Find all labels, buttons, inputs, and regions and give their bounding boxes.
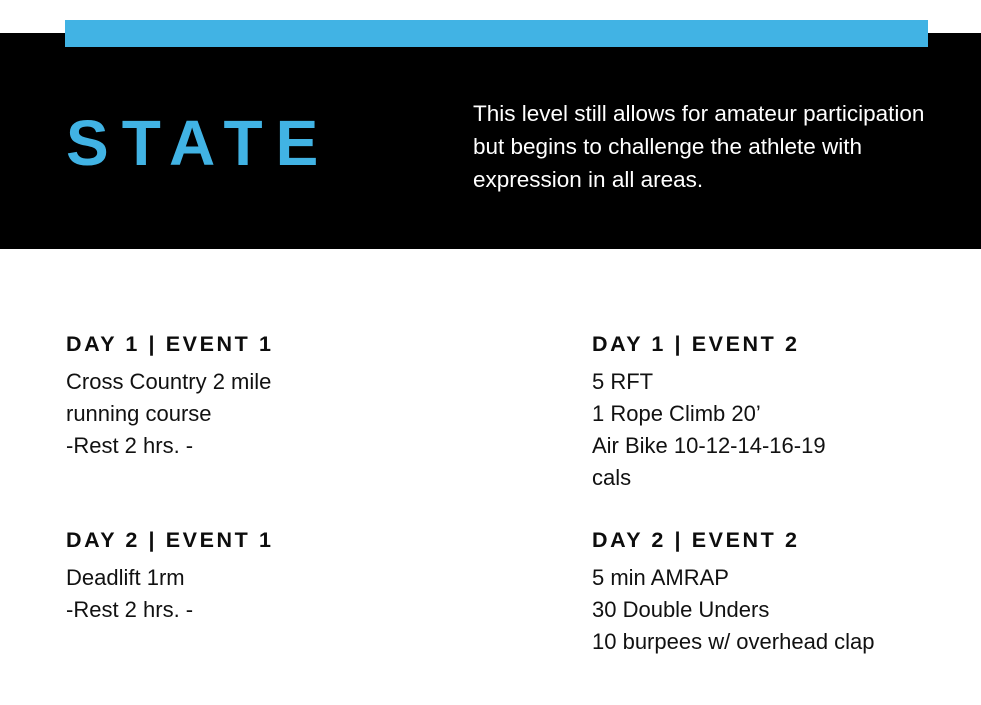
event-line: Cross Country 2 mile	[66, 366, 466, 398]
event-details: 5 RFT 1 Rope Climb 20’ Air Bike 10-12-14…	[592, 366, 981, 494]
event-details: Deadlift 1rm -Rest 2 hrs. -	[66, 562, 466, 626]
event-line: 10 burpees w/ overhead clap	[592, 626, 981, 658]
event-line: 5 RFT	[592, 366, 981, 398]
header-content: STATE This level still allows for amateu…	[0, 33, 981, 249]
event-line: -Rest 2 hrs. -	[66, 594, 466, 626]
event-block-day2-event2: DAY 2 | EVENT 2 5 min AMRAP 30 Double Un…	[592, 530, 981, 658]
event-line: -Rest 2 hrs. -	[66, 430, 466, 462]
event-heading: DAY 2 | EVENT 1	[66, 530, 466, 552]
event-block-day1-event1: DAY 1 | EVENT 1 Cross Country 2 mile run…	[66, 334, 466, 462]
event-block-day2-event1: DAY 2 | EVENT 1 Deadlift 1rm -Rest 2 hrs…	[66, 530, 466, 626]
event-line: 30 Double Unders	[592, 594, 981, 626]
event-line: Air Bike 10-12-14-16-19	[592, 430, 981, 462]
event-block-day1-event2: DAY 1 | EVENT 2 5 RFT 1 Rope Climb 20’ A…	[592, 334, 981, 494]
event-details: 5 min AMRAP 30 Double Unders 10 burpees …	[592, 562, 981, 658]
event-line: 1 Rope Climb 20’	[592, 398, 981, 430]
event-heading: DAY 2 | EVENT 2	[592, 530, 981, 552]
event-heading: DAY 1 | EVENT 1	[66, 334, 466, 356]
event-heading: DAY 1 | EVENT 2	[592, 334, 981, 356]
level-description: This level still allows for amateur part…	[473, 97, 933, 196]
event-line: cals	[592, 462, 981, 494]
event-line: 5 min AMRAP	[592, 562, 981, 594]
event-line: Deadlift 1rm	[66, 562, 466, 594]
page-title: STATE	[66, 111, 331, 175]
event-line: running course	[66, 398, 466, 430]
events-grid: DAY 1 | EVENT 1 Cross Country 2 mile run…	[0, 249, 981, 705]
event-details: Cross Country 2 mile running course -Res…	[66, 366, 466, 462]
